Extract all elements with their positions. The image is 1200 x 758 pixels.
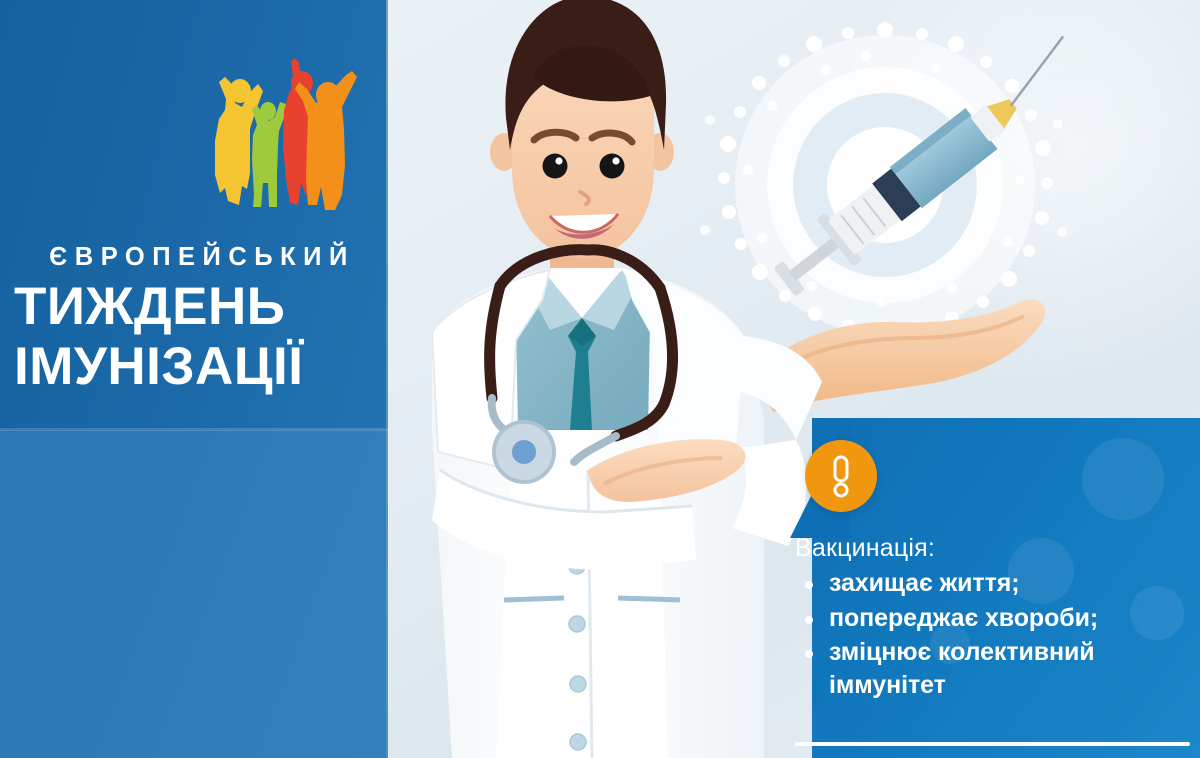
left-panel-seam [0, 428, 388, 431]
list-item: зміцнює колективний іммунітет [795, 636, 1190, 701]
stethoscope-chestpiece [494, 422, 554, 482]
benefits-list: захищає життя; попереджає хвороби; зміцн… [795, 567, 1190, 701]
european-immunization-week-logo [195, 55, 370, 235]
list-item: попереджає хвороби; [795, 602, 1190, 635]
list-item: захищає життя; [795, 567, 1190, 600]
bottom-divider [795, 742, 1190, 746]
bubble-decor [1082, 438, 1164, 520]
poster-root: ЄВРОПЕЙСЬКИЙ ТИЖДЕНЬ ІМУНІЗАЦІЇ [0, 0, 1200, 758]
doctor-head [490, 0, 674, 258]
page-title: ТИЖДЕНЬ ІМУНІЗАЦІЇ [14, 280, 388, 394]
headline-kicker: ЄВРОПЕЙСЬКИЙ [16, 243, 388, 272]
copy-title: Вакцинація: [795, 534, 1190, 563]
left-panel-lower [0, 430, 388, 758]
alert-badge [805, 440, 877, 512]
vaccination-copy-block: Вакцинація: захищає життя; попереджає хв… [795, 534, 1190, 703]
headline-line-2: ІМУНІЗАЦІЇ [14, 340, 388, 394]
exclamation-mark-icon [826, 454, 856, 498]
headline-line-1: ТИЖДЕНЬ [14, 280, 388, 334]
